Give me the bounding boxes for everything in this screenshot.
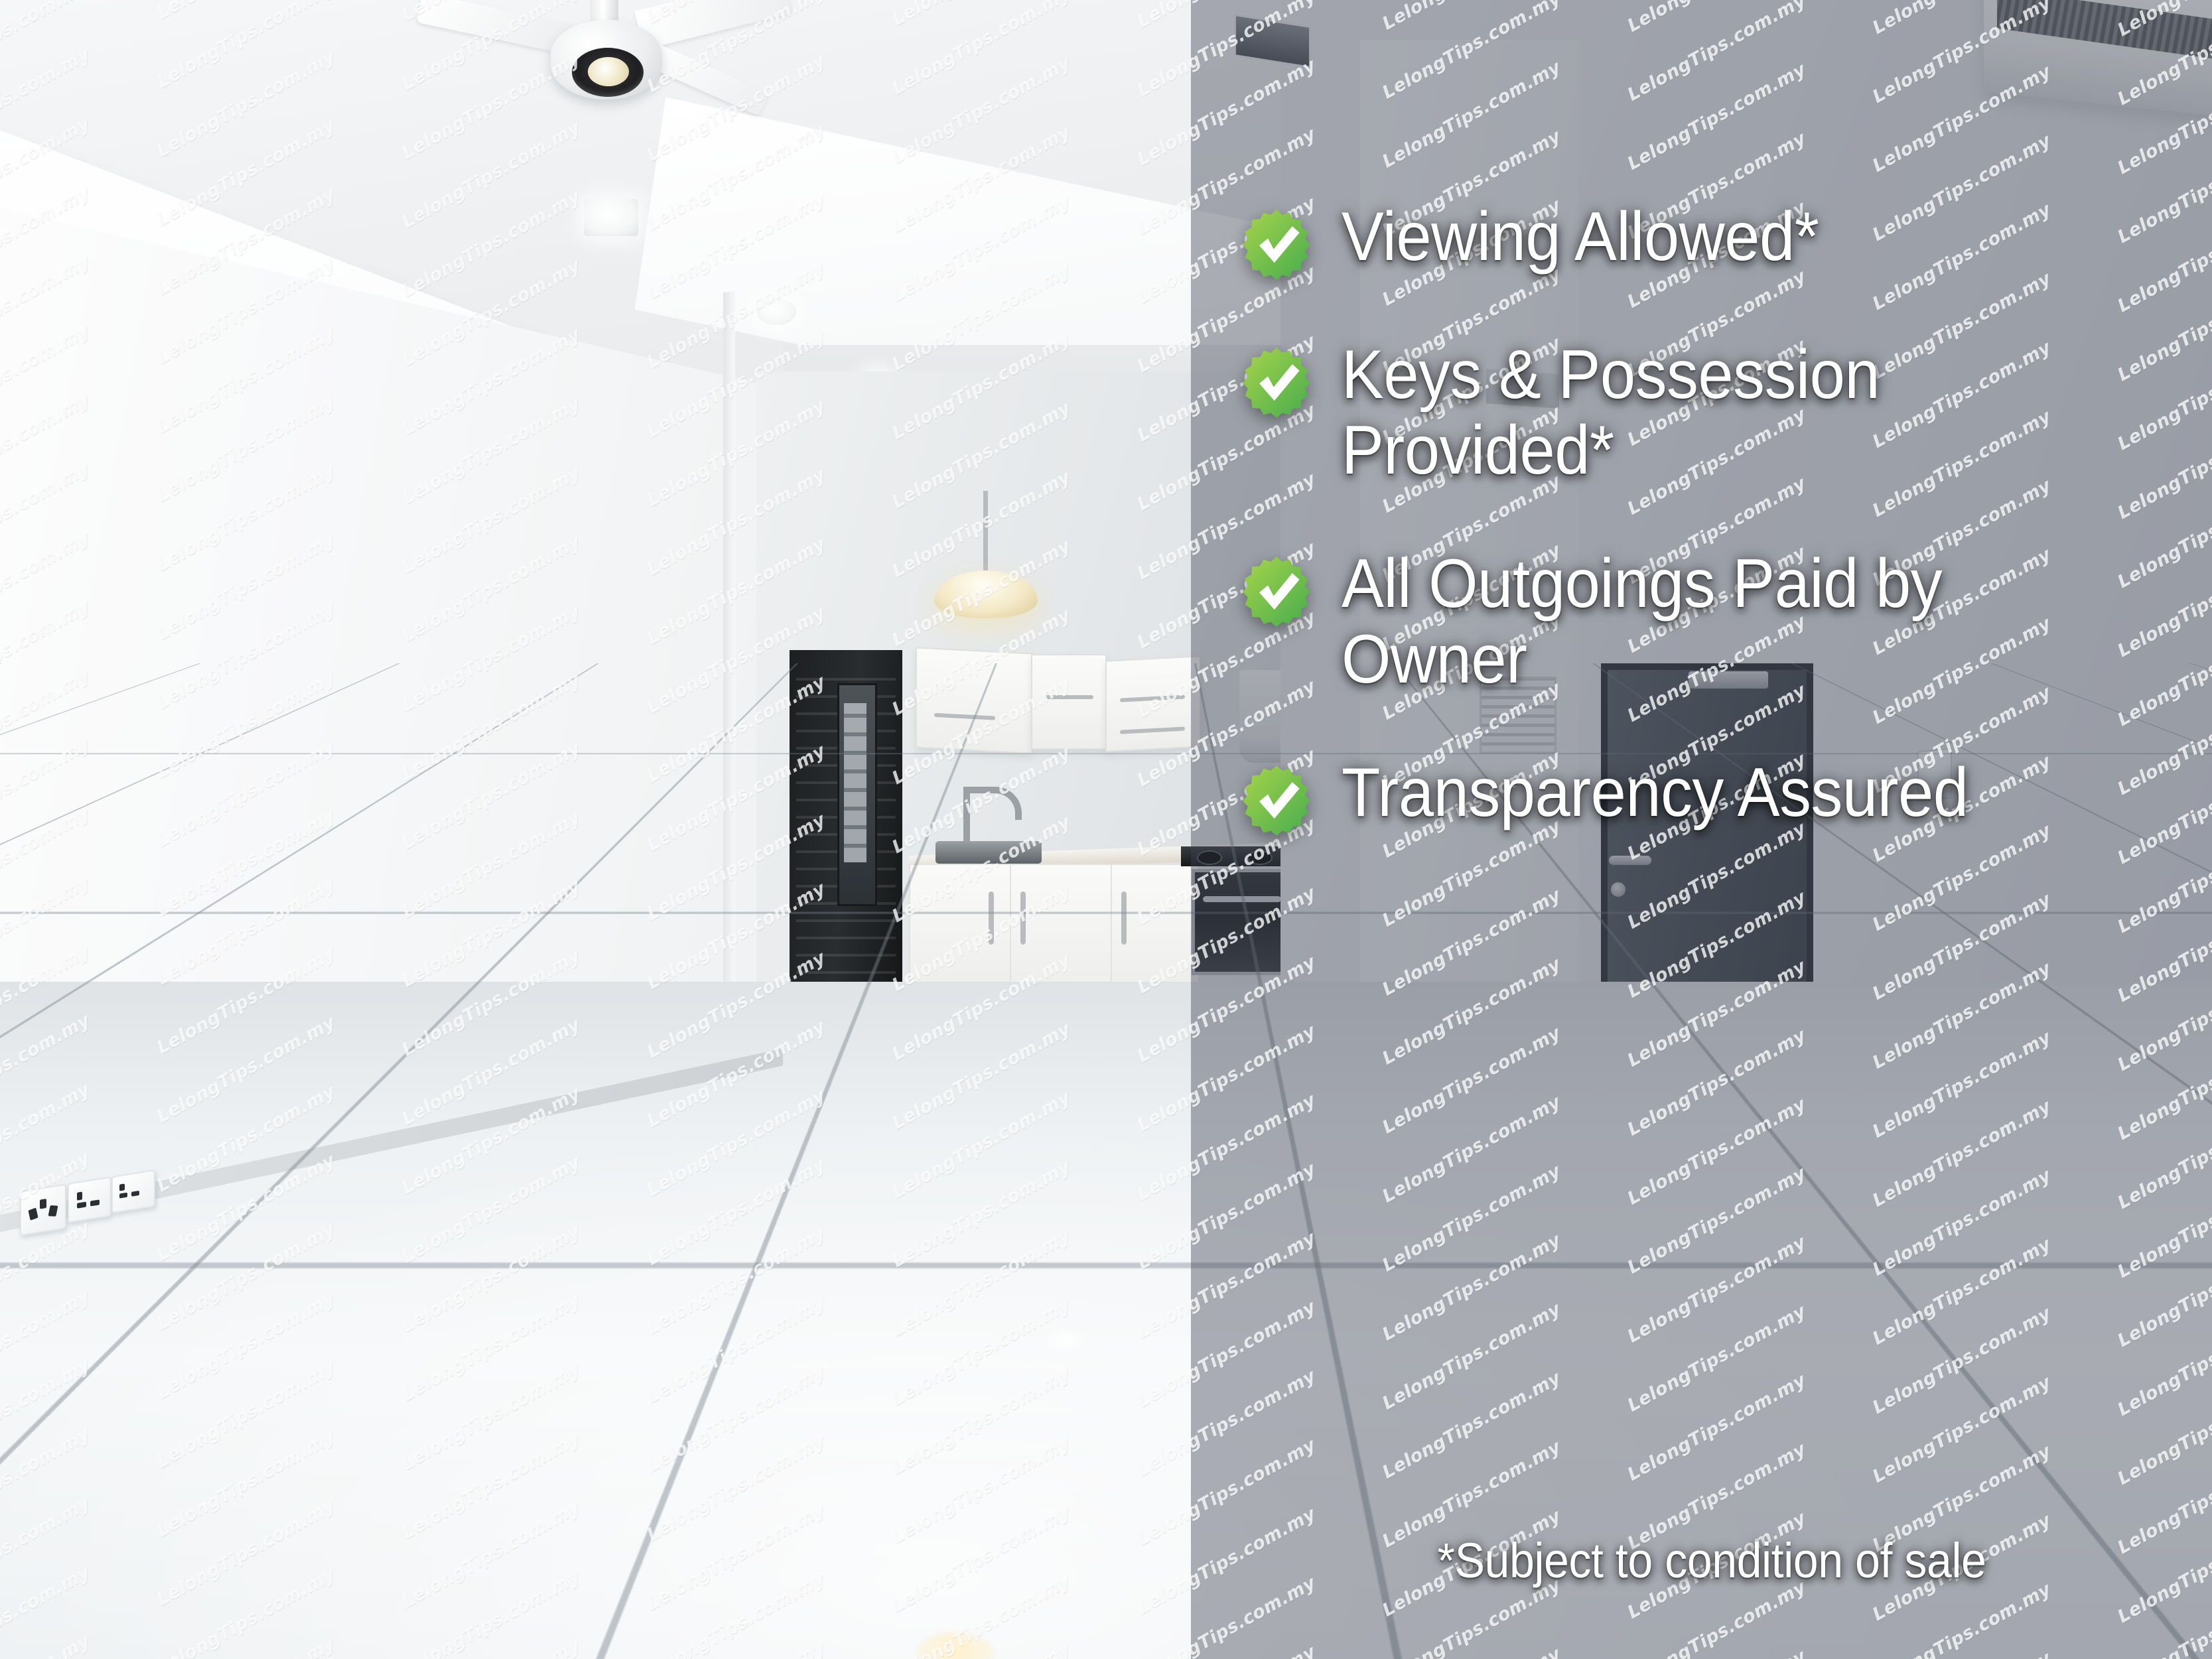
wall-socket [20, 1183, 66, 1236]
list-item: Keys & Possession Provided* [1241, 337, 2189, 489]
list-item-label: Viewing Allowed* [1342, 199, 1819, 275]
list-item-label: Transparency Assured [1342, 755, 1969, 830]
list-item-label: Keys & Possession Provided* [1342, 337, 2122, 489]
promo-image: LelongTips.com.myLelongTips.com.myLelong… [0, 0, 2212, 1659]
green-check-badge-icon [1241, 208, 1312, 280]
ceiling-fan-icon [491, 0, 717, 146]
list-item: All Outgoings Paid by Owner [1241, 546, 2189, 698]
green-check-badge-icon [1241, 555, 1312, 627]
list-item: Viewing Allowed* [1241, 199, 2189, 280]
green-check-badge-icon [1241, 764, 1312, 836]
ceiling-downlight [584, 199, 638, 236]
wall-socket [111, 1169, 155, 1213]
feature-list: Viewing Allowed* Keys & Possession Provi… [1241, 199, 2189, 893]
pendant-lamp-cord [983, 491, 988, 577]
green-check-badge-icon [1241, 346, 1312, 418]
fan-light-bulb [588, 57, 629, 86]
footnote-disclaimer: *Subject to condition of sale [1273, 1532, 2152, 1589]
list-item: Transparency Assured [1241, 755, 2189, 836]
floor-light-reflection [1042, 1327, 1088, 1353]
ceiling-downlight [756, 299, 796, 325]
wall-socket [68, 1177, 111, 1223]
list-item-label: All Outgoings Paid by Owner [1342, 546, 2122, 698]
